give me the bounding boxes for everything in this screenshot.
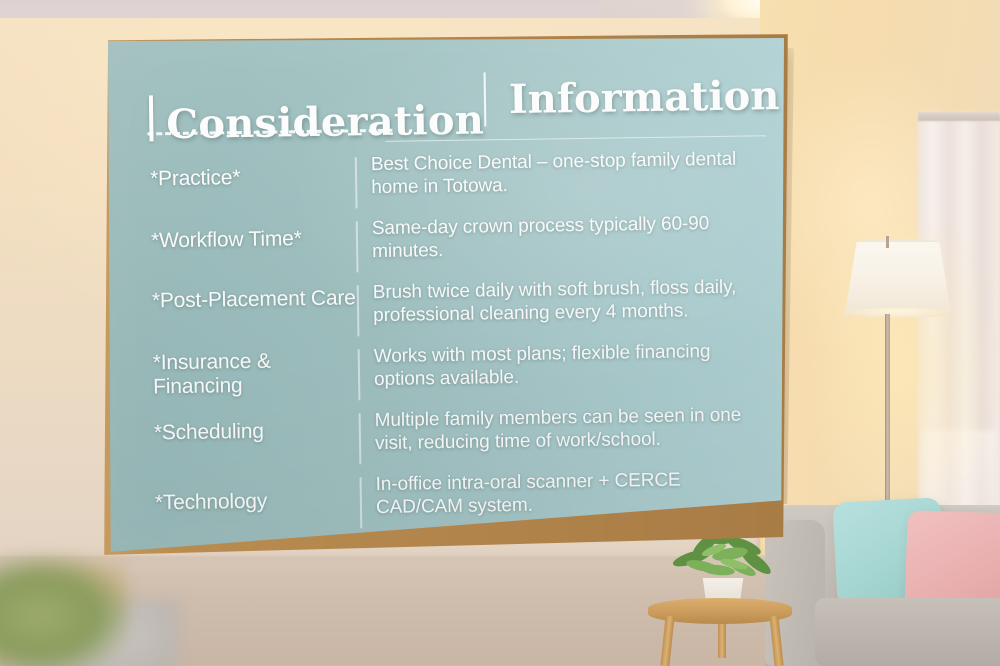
row-consideration-label: *Scheduling: [114, 410, 359, 445]
row-information-value: Works with most plans; flexible financin…: [374, 340, 790, 392]
row-divider: [360, 477, 363, 528]
table-row: *Scheduling Multiple family members can …: [114, 404, 791, 474]
table-row: *Technology In-office intra-oral scanner…: [115, 468, 792, 538]
row-consideration-label: *Workflow Time*: [111, 218, 356, 253]
row-consideration-label: *Practice*: [110, 154, 355, 191]
row-divider: [356, 221, 359, 272]
header-information-title: Information: [509, 76, 780, 120]
row-information-value: Multiple family members can be seen in o…: [375, 404, 791, 456]
row-information-value: Best Choice Dental – one-stop family den…: [371, 148, 787, 200]
information-board-wrapper: Consideration Information *Practice* Bes…: [0, 0, 1000, 666]
board-content: Consideration Information *Practice* Bes…: [108, 28, 792, 554]
board-rows: *Practice* Best Choice Dental – one-stop…: [110, 148, 792, 542]
row-divider: [357, 285, 360, 336]
row-information-value: Same-day crown process typically 60-90 m…: [372, 212, 788, 264]
table-row: *Workflow Time* Same-day crown process t…: [111, 212, 788, 282]
header-consideration-title: Consideration: [166, 100, 484, 145]
row-divider: [355, 157, 358, 208]
row-divider: [359, 413, 362, 464]
room-scene: Consideration Information *Practice* Bes…: [0, 0, 1000, 666]
table-row: *Practice* Best Choice Dental – one-stop…: [110, 148, 787, 218]
row-consideration-label: *Technology: [115, 474, 361, 515]
row-information-value: In-office intra-oral scanner + CERCE CAD…: [375, 468, 791, 520]
row-information-value: Brush twice daily with soft brush, floss…: [373, 276, 789, 328]
table-row: *Insurance & Financing Works with most p…: [113, 340, 790, 410]
row-consideration-label: *Post-Placement Care: [112, 282, 357, 313]
table-row: *Post-Placement Care Brush twice daily w…: [112, 276, 789, 346]
row-consideration-label: *Insurance & Financing: [113, 346, 359, 399]
row-divider: [358, 349, 361, 400]
